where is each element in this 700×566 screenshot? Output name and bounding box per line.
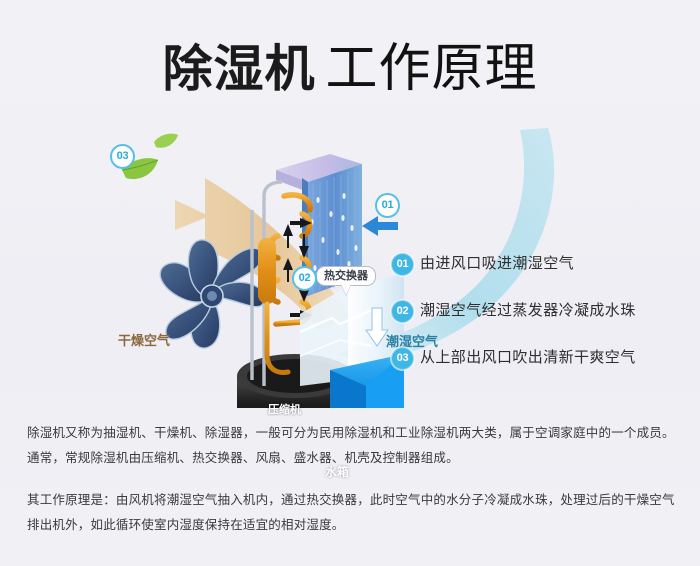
description-p2-line2: 排出机外，如此循环使室内湿度保持在适宜的相对湿度。 bbox=[27, 512, 675, 537]
description-p2-line1: 其工作原理是：由风机将潮湿空气抽入机内，通过热交换器，此时空气中的水分子冷凝成水… bbox=[27, 487, 675, 512]
legend-text-02: 潮湿空气经过蒸发器冷凝成水珠 bbox=[420, 299, 636, 321]
fan-illustration bbox=[160, 240, 264, 348]
heat-exchanger-label: 热交换器 bbox=[324, 269, 368, 282]
dry-air-label: 干燥空气 bbox=[118, 330, 170, 349]
page-root: 除湿机工作原理 bbox=[0, 0, 700, 566]
page-title-part1: 除湿机 bbox=[162, 40, 315, 98]
badge-humid-air: 01 bbox=[375, 193, 400, 218]
badge-heat-exchanger: 02 bbox=[292, 266, 317, 291]
legend-badge-01: 01 bbox=[391, 253, 414, 276]
description-paragraph-2: 其工作原理是：由风机将潮湿空气抽入机内，通过热交换器，此时空气中的水分子冷凝成水… bbox=[27, 487, 675, 537]
description-paragraph-1: 除湿机又称为抽湿机、干燥机、除湿器，一般可分为民用除湿机和工业除湿机两大类，属于… bbox=[27, 420, 675, 470]
page-title-part2: 工作原理 bbox=[325, 39, 537, 99]
legend-item: 03 从上部出风口吹出清新干爽空气 bbox=[391, 346, 691, 370]
legend-text-03: 从上部出风口吹出清新干爽空气 bbox=[420, 346, 636, 368]
legend-list: 01 由进风口吸进潮湿空气 02 潮湿空气经过蒸发器冷凝成水珠 03 从上部出风… bbox=[391, 252, 691, 393]
legend-badge-02: 02 bbox=[391, 300, 414, 323]
badge-dry-air: 03 bbox=[110, 144, 135, 169]
inlet-arrow bbox=[362, 216, 398, 236]
legend-text-01: 由进风口吸进潮湿空气 bbox=[420, 252, 574, 274]
description-p1-line2: 通常，常规除湿机由压缩机、热交换器、风扇、盛水器、机壳及控制器组成。 bbox=[27, 445, 675, 470]
compressor-label: 压缩机 bbox=[268, 401, 301, 417]
callout-tail-icon bbox=[341, 284, 351, 295]
description-p1-line1: 除湿机又称为抽湿机、干燥机、除湿器，一般可分为民用除湿机和工业除湿机两大类，属于… bbox=[27, 420, 675, 445]
legend-badge-03: 03 bbox=[391, 347, 414, 370]
compressor-vessel bbox=[258, 238, 276, 304]
condenser-coil bbox=[271, 195, 311, 324]
legend-item: 01 由进风口吸进潮湿空气 bbox=[391, 252, 691, 276]
heat-exchanger-callout: 热交换器 bbox=[316, 266, 376, 286]
page-title: 除湿机工作原理 bbox=[0, 26, 700, 101]
legend-item: 02 潮湿空气经过蒸发器冷凝成水珠 bbox=[391, 299, 691, 323]
